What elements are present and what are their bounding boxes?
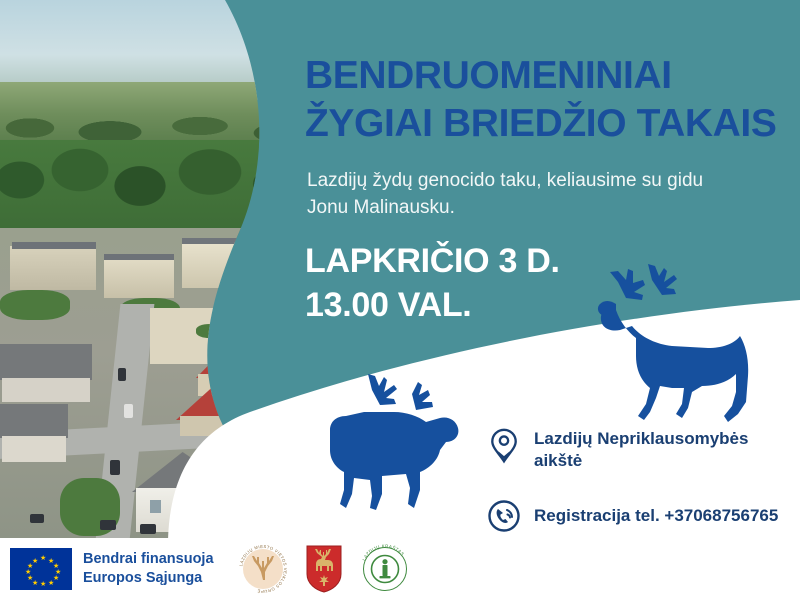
event-datetime: LAPKRIČIO 3 D. 13.00 VAL.: [305, 240, 560, 327]
phone-text: Registracija tel. +37068756765: [534, 505, 778, 527]
antlers-icon: LAZDIJŲ MIESTO VIETOS VEIKLOS GRUPĖ: [238, 544, 288, 594]
moose-silhouette-icon: [320, 368, 480, 513]
aerial-town-photo: [0, 0, 340, 540]
headline-line-1: BENDRUOMENINIAI: [305, 52, 800, 100]
poster-subtitle: Lazdijų žydų genocido taku, keliausime s…: [307, 168, 787, 222]
headline-line-2: ŽYGIAI BRIEDŽIO TAKAIS: [305, 100, 800, 148]
venue-line-2: aikštė: [534, 450, 748, 472]
lazdijai-coat-of-arms: [304, 544, 344, 594]
event-poster: BENDRUOMENINIAI ŽYGIAI BRIEDŽIO TAKAIS L…: [0, 0, 800, 600]
footer-logo-bar: ★ ★ ★ ★ ★ ★ ★ ★ ★ ★ ★ ★ Bendrai finansuo…: [0, 538, 800, 600]
venue-info: Lazdijų Nepriklausomybės aikštė: [487, 428, 748, 473]
venue-line-1: Lazdijų Nepriklausomybės: [534, 428, 748, 450]
information-i-icon: [379, 559, 390, 578]
moose-silhouette-icon: [588, 252, 798, 437]
lazdijai-krastas-tourist-information-logo: LAZDIJŲ KRAŠTAS: [360, 544, 410, 594]
eu-funding-line-1: Bendrai finansuoja: [83, 550, 214, 569]
subtitle-line-1: Lazdijų žydų genocido taku, keliausime s…: [307, 168, 787, 195]
svg-text:LAZDIJŲ KRAŠTAS: LAZDIJŲ KRAŠTAS: [361, 544, 405, 562]
registration-phone-info: Registracija tel. +37068756765: [487, 498, 778, 534]
phone-ringing-icon: [487, 498, 521, 534]
location-pin-icon: [487, 428, 521, 464]
eu-funding-line-2: Europos Sąjunga: [83, 569, 214, 588]
page-title: BENDRUOMENINIAI ŽYGIAI BRIEDŽIO TAKAIS: [305, 52, 800, 147]
venue-text: Lazdijų Nepriklausomybės aikštė: [534, 428, 748, 473]
eu-funding-text: Bendrai finansuoja Europos Sąjunga: [83, 550, 214, 588]
event-time: 13.00 VAL.: [305, 284, 560, 328]
european-union-flag-icon: ★ ★ ★ ★ ★ ★ ★ ★ ★ ★ ★ ★: [10, 548, 72, 590]
lazdijai-city-local-action-group-logo: LAZDIJŲ MIESTO VIETOS VEIKLOS GRUPĖ: [238, 544, 288, 594]
photo-town: [0, 228, 340, 540]
subtitle-line-2: Jonu Malinausku.: [307, 195, 787, 222]
event-date: LAPKRIČIO 3 D.: [305, 240, 560, 284]
